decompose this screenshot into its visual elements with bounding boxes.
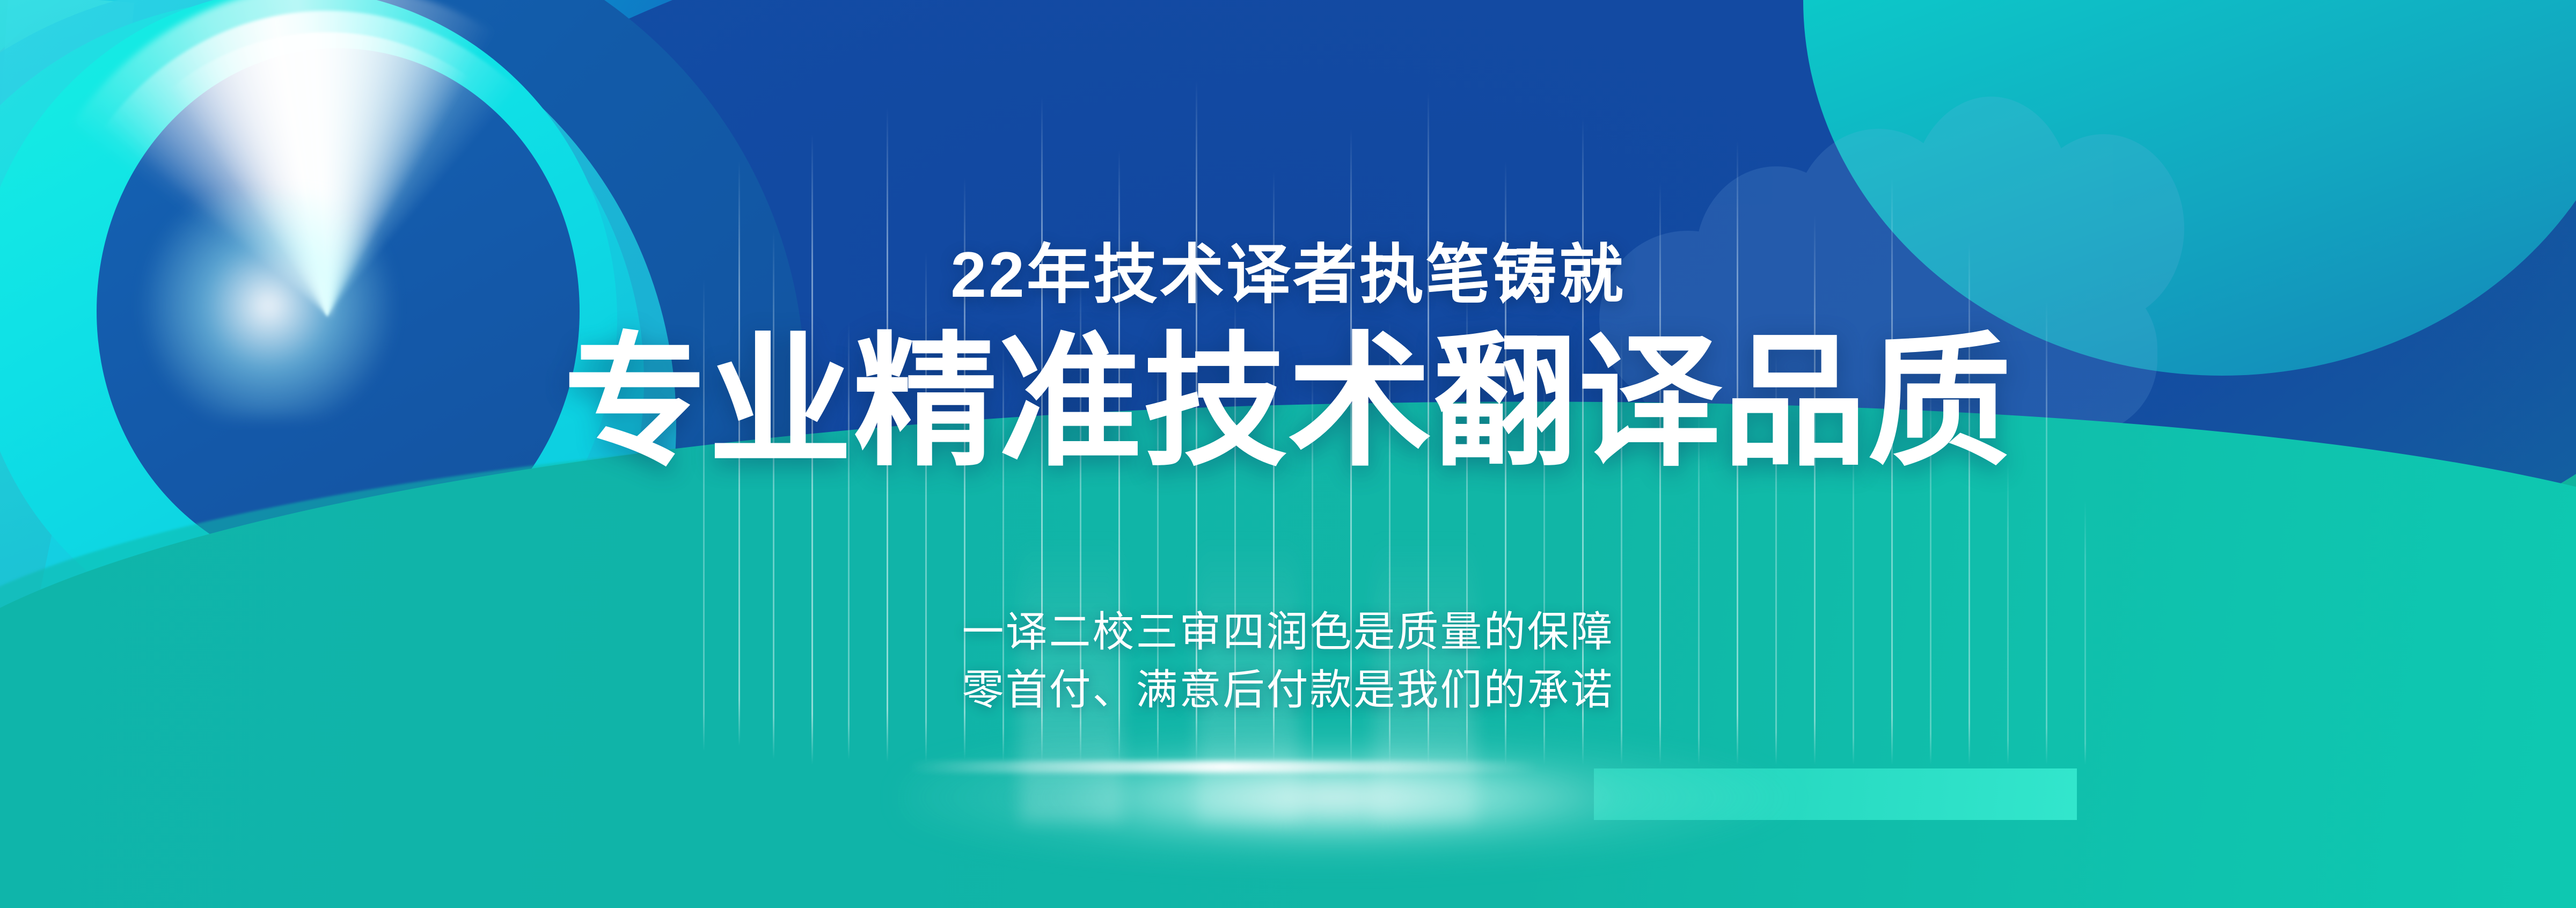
banner-text-block: 22年技术译者执笔铸就 专业精准技术翻译品质 一译二校三审四润色是质量的保障 零…: [0, 0, 2576, 908]
banner-headline: 专业精准技术翻译品质: [563, 327, 2012, 477]
banner-subtitle-line: 零首付、满意后付款是我们的承诺: [962, 661, 1614, 719]
promo-banner: 22年技术译者执笔铸就 专业精准技术翻译品质 一译二校三审四润色是质量的保障 零…: [0, 0, 2576, 908]
banner-subtitles: 一译二校三审四润色是质量的保障 零首付、满意后付款是我们的承诺: [962, 603, 1614, 719]
banner-eyebrow: 22年技术译者执笔铸就: [950, 243, 1625, 307]
banner-subtitle-line: 一译二校三审四润色是质量的保障: [962, 603, 1614, 661]
